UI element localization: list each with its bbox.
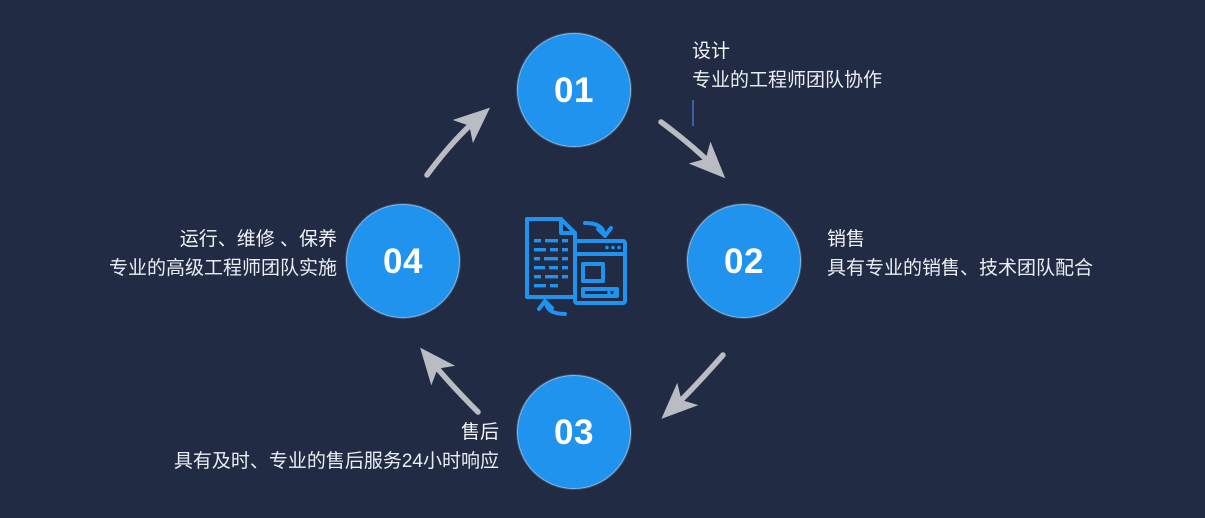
step-title: 设计 <box>692 38 882 67</box>
step-node-03[interactable]: 03 <box>517 375 631 489</box>
document-exchange-icon <box>519 209 631 319</box>
step-number: 02 <box>724 244 764 279</box>
step-label-02: 销售 具有专业的销售、技术团队配合 <box>827 226 1093 283</box>
step-description: 具有专业的销售、技术团队配合 <box>827 255 1093 284</box>
step-title: 销售 <box>827 226 1093 255</box>
step-number: 03 <box>554 415 594 450</box>
step-title: 售后 <box>174 419 499 448</box>
text-caret <box>692 100 694 126</box>
step-label-03: 售后 具有及时、专业的售后服务24小时响应 <box>174 419 499 476</box>
step-node-01[interactable]: 01 <box>517 33 631 147</box>
step-number: 01 <box>554 73 594 108</box>
step-label-04: 运行、维修 、保养 专业的高级工程师团队实施 <box>109 226 337 283</box>
arrow-04-to-01 <box>427 120 476 175</box>
arrow-01-to-02 <box>661 122 712 165</box>
step-title: 运行、维修 、保养 <box>109 226 337 255</box>
step-node-04[interactable]: 04 <box>346 204 460 318</box>
step-number: 04 <box>383 244 423 279</box>
step-label-01: 设计 专业的工程师团队协作 <box>692 38 882 95</box>
step-description: 具有及时、专业的售后服务24小时响应 <box>174 448 499 477</box>
step-description: 专业的高级工程师团队实施 <box>109 255 337 284</box>
step-description: 专业的工程师团队协作 <box>692 67 882 96</box>
process-cycle-diagram: 01 02 03 04 设计 专业的工程师团队协作 销售 具有专业的销售、技术团… <box>0 0 1205 518</box>
arrow-02-to-03 <box>675 355 723 406</box>
step-node-02[interactable]: 02 <box>687 204 801 318</box>
arrow-03-to-04 <box>432 362 478 412</box>
